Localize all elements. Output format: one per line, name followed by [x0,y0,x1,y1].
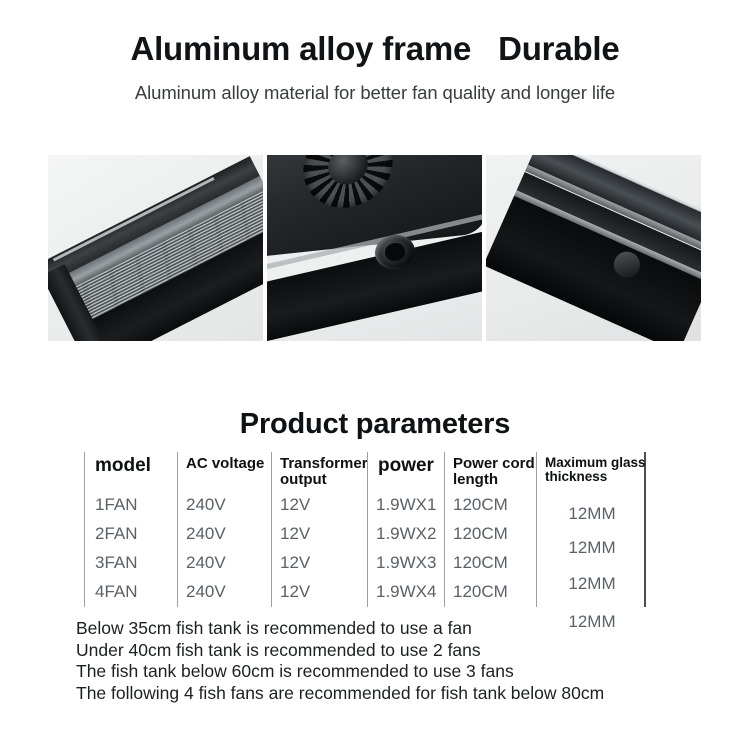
recommendation-notes: Below 35cm fish tank is recommended to u… [76,618,716,704]
table-cell: 12MM [537,532,647,564]
recommendation-line: The fish tank below 60cm is recommended … [76,661,716,683]
table-cell: 240V [178,577,271,606]
table-cell: 240V [178,490,271,519]
section-title-product-parameters: Product parameters [0,408,750,441]
product-photo-strip [48,155,702,341]
recommendation-line: Under 40cm fish tank is recommended to u… [76,640,716,662]
table-cell: 1.9WX4 [368,577,444,606]
table-cell: 120CM [445,519,536,548]
table-cell: 240V [178,548,271,577]
page-headline: Aluminum alloy frame Durable [0,30,750,68]
product-detail-page: Aluminum alloy frame Durable Aluminum al… [0,0,750,750]
table-cell: 1.9WX1 [368,490,444,519]
column-header: model [85,452,177,476]
table-cell: 12V [272,548,367,577]
column-header: Maximum glass thickness [537,452,647,485]
column-header: Transformer output [272,452,367,488]
table-cell: 120CM [445,490,536,519]
product-parameters-table: model1FAN2FAN3FAN4FANAC voltage240V240V2… [84,452,646,607]
table-column-voltage: AC voltage240V240V240V240V [177,452,271,607]
table-column-transformer: Transformer output12V12V12V12V [271,452,367,607]
table-column-model: model1FAN2FAN3FAN4FAN [85,452,177,607]
column-header: AC voltage [178,452,271,472]
table-cell: 240V [178,519,271,548]
table-column-cord: Power cord length120CM120CM120CM120CM [444,452,536,607]
table-cell: 120CM [445,577,536,606]
table-cell: 12V [272,519,367,548]
column-header: power [368,452,444,476]
table-cell: 1.9WX3 [368,548,444,577]
table-cell: 12MM [537,568,647,600]
table-column-power: power1.9WX11.9WX21.9WX31.9WX4 [367,452,444,607]
table-cell: 12V [272,490,367,519]
table-cell: 12V [272,577,367,606]
recommendation-line: Below 35cm fish tank is recommended to u… [76,618,716,640]
photo-fan-housing-with-grille [267,155,482,341]
table-cell: 1.9WX2 [368,519,444,548]
table-cell: 4FAN [85,577,177,606]
table-cell: 3FAN [85,548,177,577]
table-cell: 1FAN [85,490,177,519]
table-column-glass: Maximum glass thickness12MM12MM12MM12MM [536,452,647,607]
column-header: Power cord length [445,452,536,488]
page-subtitle: Aluminum alloy material for better fan q… [0,82,750,104]
table-cell: 12MM [537,498,647,530]
photo-aluminum-extrusion-profile [48,155,263,341]
table-cell: 120CM [445,548,536,577]
recommendation-line: The following 4 fish fans are recommende… [76,683,716,705]
table-cell: 2FAN [85,519,177,548]
photo-grooved-rail-end-view [486,155,701,341]
